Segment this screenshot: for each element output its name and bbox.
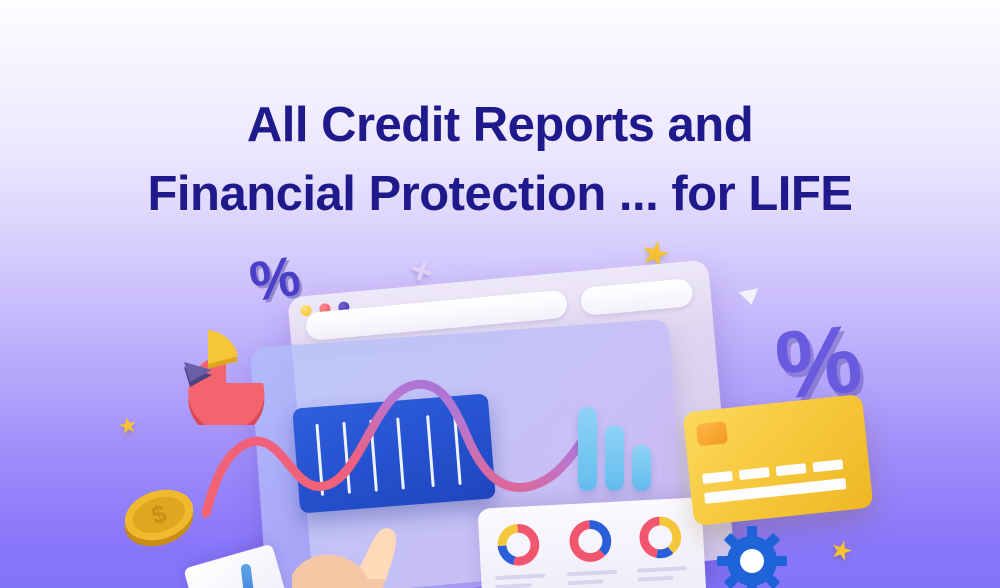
donut-caption-2 bbox=[567, 570, 618, 588]
donut-3 bbox=[636, 513, 684, 561]
sky-bar bbox=[578, 407, 597, 491]
triangle-shape-right bbox=[739, 288, 762, 307]
donut-caption-3 bbox=[637, 566, 688, 587]
page-title: All Credit Reports and Financial Protect… bbox=[0, 91, 1000, 230]
caption-line bbox=[496, 583, 532, 588]
hero-illustration: + ★ ★ ★ % % bbox=[0, 215, 1000, 588]
donut-2 bbox=[566, 517, 614, 565]
headline-emphasis-life: LIFE bbox=[748, 167, 852, 221]
sky-bar-chart bbox=[578, 401, 658, 491]
credit-card-number-group bbox=[776, 463, 807, 476]
credit-card-stripe bbox=[704, 478, 846, 504]
credit-card-number-group bbox=[739, 467, 770, 480]
credit-card-number-group bbox=[702, 471, 733, 484]
credit-card-number-group bbox=[812, 459, 843, 472]
pen-icon bbox=[240, 563, 256, 588]
gear-icon bbox=[716, 525, 788, 588]
dollar-coin-icon: $ bbox=[120, 479, 198, 551]
caption-line bbox=[567, 570, 617, 577]
document-with-pen bbox=[183, 544, 289, 588]
exploded-pie-chart bbox=[160, 313, 288, 425]
credit-card-chip-icon bbox=[696, 421, 728, 446]
secondary-input[interactable] bbox=[580, 278, 694, 316]
donut-caption-1 bbox=[495, 573, 546, 588]
pointing-hand-icon bbox=[292, 523, 442, 588]
caption-line bbox=[495, 573, 545, 580]
sky-bar bbox=[605, 425, 624, 491]
donut-1 bbox=[494, 521, 542, 569]
headline-line-2-prefix: Financial Protection ... for bbox=[148, 167, 749, 221]
credit-card bbox=[683, 394, 874, 526]
star-left-icon: ★ bbox=[116, 413, 139, 438]
caption-line bbox=[637, 566, 687, 573]
sky-bar bbox=[632, 445, 651, 491]
donut-stats-card bbox=[478, 497, 707, 588]
headline-line-1: All Credit Reports and bbox=[0, 91, 1000, 161]
star-right-icon: ★ bbox=[827, 534, 857, 565]
caption-line bbox=[637, 576, 673, 582]
caption-line bbox=[567, 579, 603, 585]
promo-banner: All Credit Reports and Financial Protect… bbox=[0, 0, 1000, 588]
